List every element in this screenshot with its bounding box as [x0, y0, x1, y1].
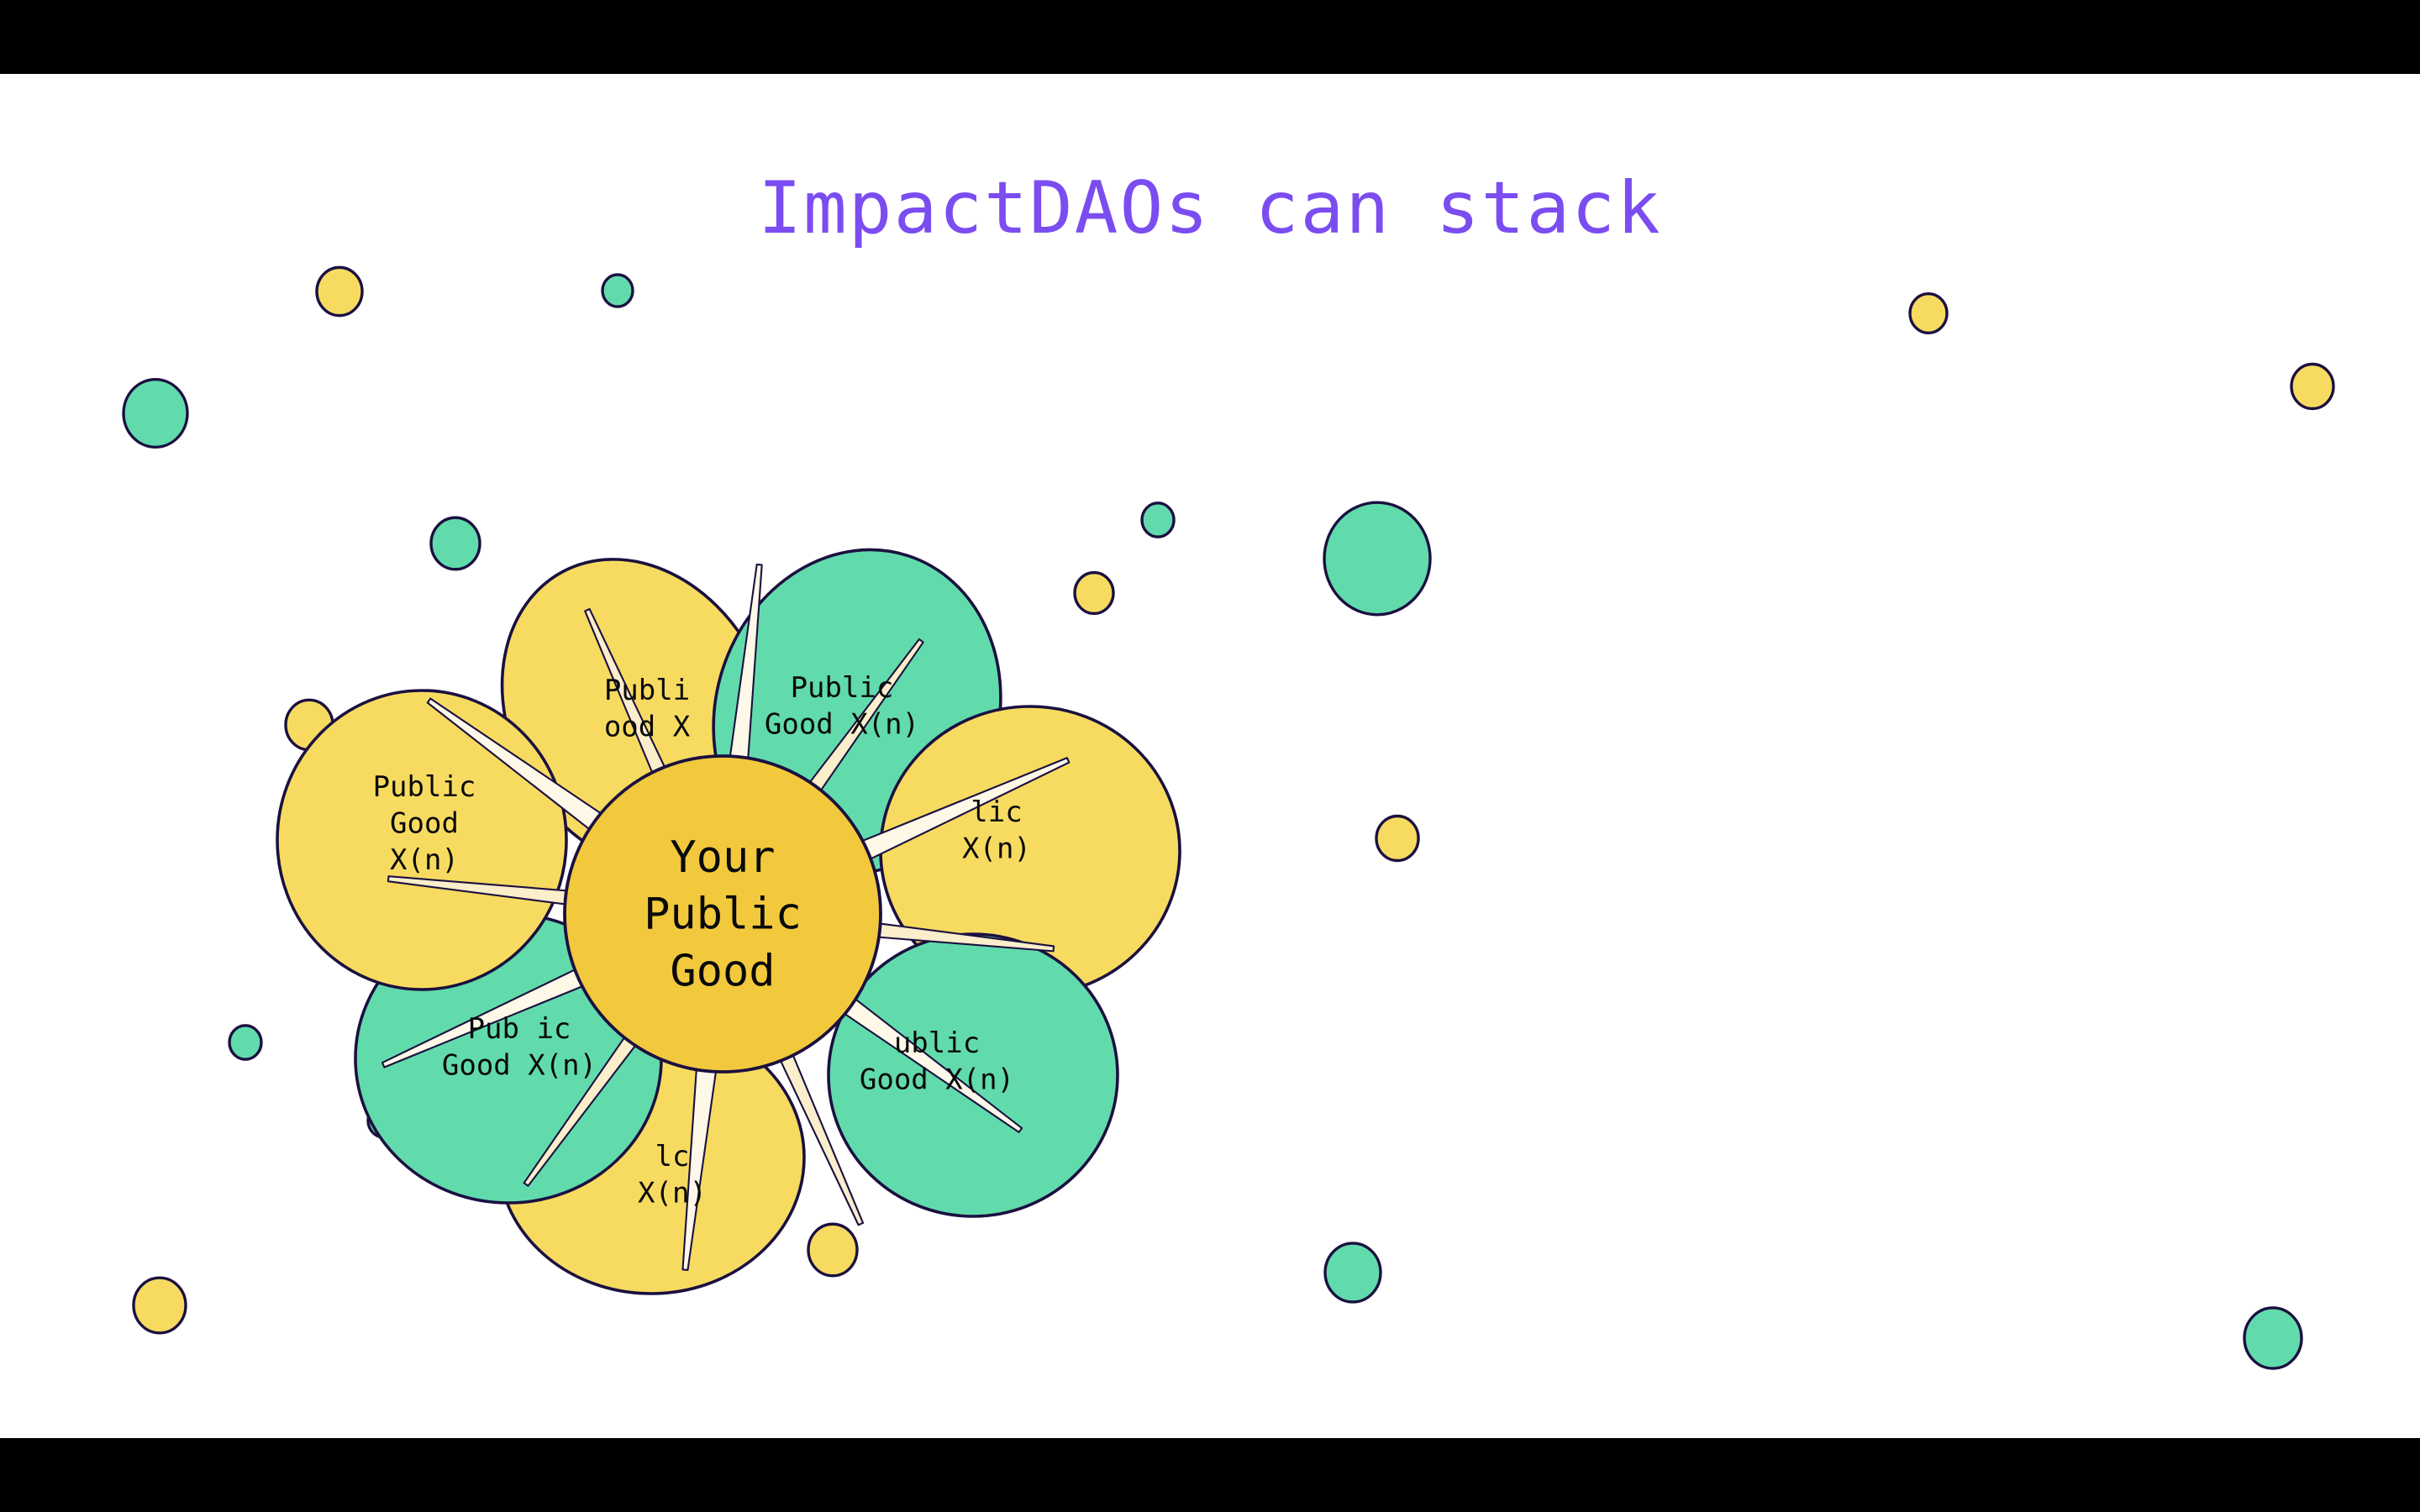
- decor-dot: [317, 267, 362, 315]
- petal-label-line: Good X(n): [442, 1049, 597, 1083]
- decor-dot: [1376, 816, 1418, 861]
- petal-label-line: ublic: [894, 1026, 980, 1060]
- petal-label-line: Public: [791, 671, 894, 705]
- decor-dot: [808, 1224, 857, 1275]
- decor-dot: [2244, 1308, 2302, 1368]
- slide-root: Publiood XPublicGood X(n)licX(n)ublicGoo…: [0, 0, 2420, 1512]
- decor-dot: [602, 275, 633, 307]
- petal-label-line: lc: [655, 1140, 690, 1173]
- petal-label-line: X(n): [638, 1177, 707, 1210]
- decor-dot: [1075, 573, 1113, 614]
- decor-dot: [1324, 502, 1430, 615]
- decor-dot: [2291, 365, 2333, 409]
- petal-label-line: Public: [373, 770, 476, 804]
- center-label-line: Your: [670, 832, 775, 883]
- decor-dot: [1142, 503, 1174, 537]
- center-label-line: Good: [670, 946, 775, 996]
- petal-label-line: Good X(n): [765, 708, 919, 742]
- petal-label-line: X(n): [390, 843, 459, 877]
- petal-label-line: Good X(n): [860, 1063, 1014, 1097]
- petal-label-line: Publi: [604, 674, 690, 707]
- decor-dot: [1910, 294, 1947, 333]
- decor-dot: [134, 1278, 186, 1333]
- decor-dot: [229, 1026, 261, 1059]
- letterbox-bottom: [0, 1438, 2420, 1512]
- letterbox-top: [0, 0, 2420, 74]
- petal-label-line: ood X: [604, 711, 691, 744]
- petal-label-line: lic: [971, 795, 1022, 829]
- flower-diagram: Publiood XPublicGood X(n)licX(n)ublicGoo…: [0, 74, 2420, 1438]
- decor-dot: [124, 380, 187, 448]
- decor-dot: [1325, 1243, 1381, 1302]
- petal-label-line: Pub ic: [468, 1012, 571, 1046]
- decor-dot: [431, 517, 480, 569]
- petal-label-line: Good: [390, 807, 459, 841]
- petal-label-line: X(n): [962, 832, 1031, 866]
- slide-canvas: Publiood XPublicGood X(n)licX(n)ublicGoo…: [0, 74, 2420, 1438]
- center-label-line: Public: [644, 890, 802, 940]
